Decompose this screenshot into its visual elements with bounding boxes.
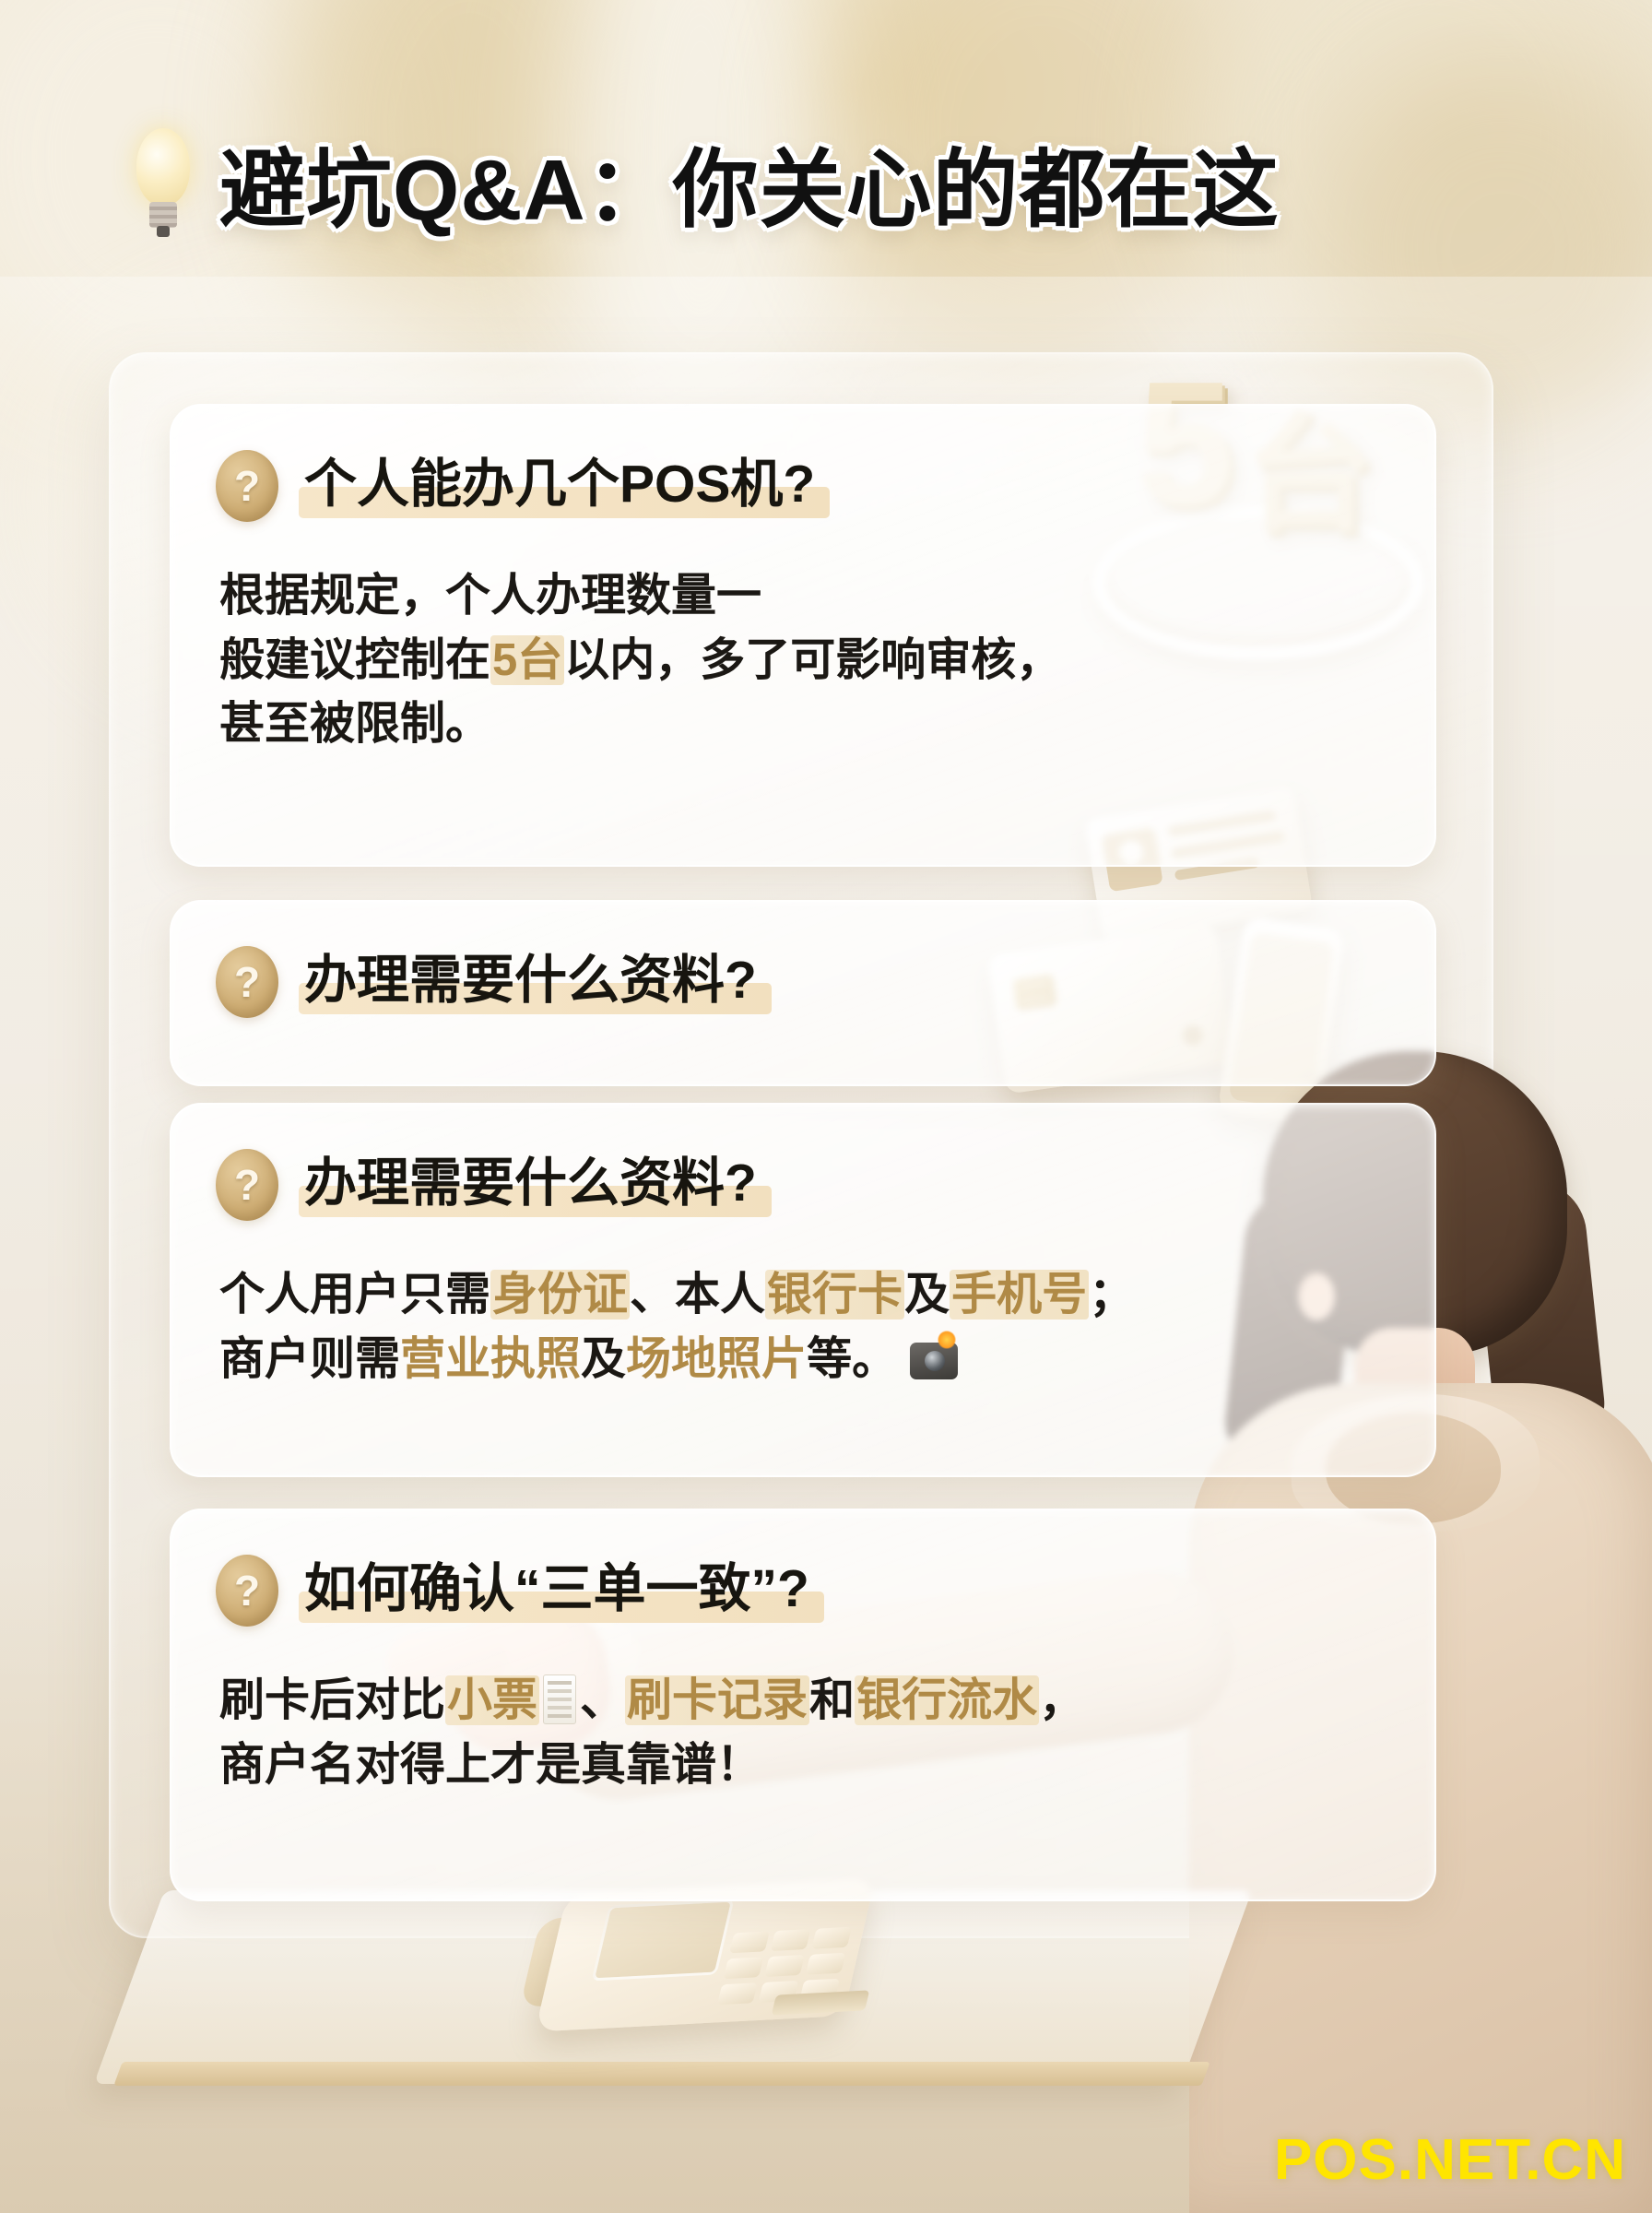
question-row: ? 办理需要什么资料? [216, 946, 766, 1018]
question-mark-glyph: ? [216, 946, 278, 1018]
answer-line: 甚至被限制。 [219, 692, 1392, 757]
answer-highlight: 5台 [490, 635, 564, 685]
answer-text: 刷卡后对比 [219, 1675, 445, 1725]
qa-card[interactable]: ? 办理需要什么资料? 个人用户只需身份证、本人银行卡及手机号；商户则需营业执照… [170, 1103, 1436, 1477]
answer-line: 刷卡后对比小票、刷卡记录和银行流水， [219, 1669, 1392, 1734]
answer-body: 个人用户只需身份证、本人银行卡及手机号；商户则需营业执照及场地照片等。 [219, 1263, 1392, 1391]
page-title: 避坑Q&A：你关心的都在这 [219, 120, 1280, 244]
answer-text: ； [1089, 1270, 1134, 1320]
question-mark-icon: ? [216, 1555, 278, 1627]
question-text: 如何确认“三单一致”? [299, 1561, 819, 1621]
answer-text: 根据规定，个人办理数量一 [219, 571, 761, 621]
poster-canvas: 避坑Q&A：你关心的都在这 5 台 [0, 0, 1652, 2213]
answer-highlight: 营业执照 [400, 1334, 581, 1384]
answer-highlight: 银行卡 [765, 1270, 904, 1320]
receipt-icon [543, 1675, 576, 1724]
qa-card[interactable]: ? 个人能办几个POS机? 根据规定，个人办理数量一般建议控制在5台以内，多了可… [170, 404, 1436, 867]
question-row: ? 办理需要什么资料? [216, 1149, 766, 1221]
question-text: 办理需要什么资料? [299, 1155, 766, 1215]
lightbulb-icon [129, 128, 197, 237]
site-watermark: POS.NET.CN [1274, 2127, 1626, 2193]
answer-text: 等。 [807, 1334, 897, 1384]
qa-card[interactable]: ? 如何确认“三单一致”? 刷卡后对比小票、刷卡记录和银行流水，商户名对得上才是… [170, 1509, 1436, 1901]
qa-card[interactable]: ? 办理需要什么资料? [170, 900, 1436, 1086]
answer-line: 商户名对得上才是真靠谱！ [219, 1734, 1392, 1798]
question-mark-glyph: ? [216, 1555, 278, 1627]
answer-body: 刷卡后对比小票、刷卡记录和银行流水，商户名对得上才是真靠谱！ [219, 1669, 1392, 1797]
answer-line: 般建议控制在5台以内，多了可影响审核， [219, 629, 1392, 693]
answer-text: 商户则需 [219, 1334, 400, 1384]
answer-line: 个人用户只需身份证、本人银行卡及手机号； [219, 1263, 1392, 1328]
answer-highlight: 小票 [445, 1675, 539, 1725]
question-text: 个人能办几个POS机? [299, 456, 824, 516]
answer-highlight: 银行流水 [855, 1675, 1039, 1725]
page-title-row: 避坑Q&A：你关心的都在这 [129, 120, 1280, 244]
question-mark-glyph: ? [216, 1149, 278, 1221]
answer-text: ， [1039, 1675, 1084, 1725]
pos-screen [591, 1899, 734, 1982]
question-mark-glyph: ? [216, 450, 278, 522]
answer-body: 根据规定，个人办理数量一般建议控制在5台以内，多了可影响审核，甚至被限制。 [219, 564, 1392, 757]
answer-highlight: 身份证 [490, 1270, 630, 1320]
answer-text: 般建议控制在 [219, 635, 490, 685]
question-mark-icon: ? [216, 946, 278, 1018]
answer-text: 个人用户只需 [219, 1270, 490, 1320]
answer-highlight: 场地照片 [626, 1334, 807, 1384]
answer-line: 根据规定，个人办理数量一 [219, 564, 1392, 629]
answer-text: 和 [809, 1675, 855, 1725]
answer-text: 甚至被限制。 [219, 699, 490, 749]
answer-highlight: 刷卡记录 [625, 1675, 809, 1725]
answer-text: 及 [904, 1270, 950, 1320]
answer-text: 及 [581, 1334, 626, 1384]
answer-text: 商户名对得上才是真靠谱！ [219, 1740, 761, 1790]
answer-text: 、 [580, 1675, 625, 1725]
answer-text: 、本人 [630, 1270, 765, 1320]
pos-printer-slot [772, 1990, 870, 2015]
question-mark-icon: ? [216, 1149, 278, 1221]
question-mark-icon: ? [216, 450, 278, 522]
answer-text: 以内，多了可影响审核， [564, 635, 1061, 685]
answer-line: 商户则需营业执照及场地照片等。 [219, 1328, 1392, 1392]
question-row: ? 如何确认“三单一致”? [216, 1555, 819, 1627]
camera-icon [910, 1343, 958, 1379]
question-row: ? 个人能办几个POS机? [216, 450, 824, 522]
answer-highlight: 手机号 [950, 1270, 1089, 1320]
question-text: 办理需要什么资料? [299, 953, 766, 1012]
